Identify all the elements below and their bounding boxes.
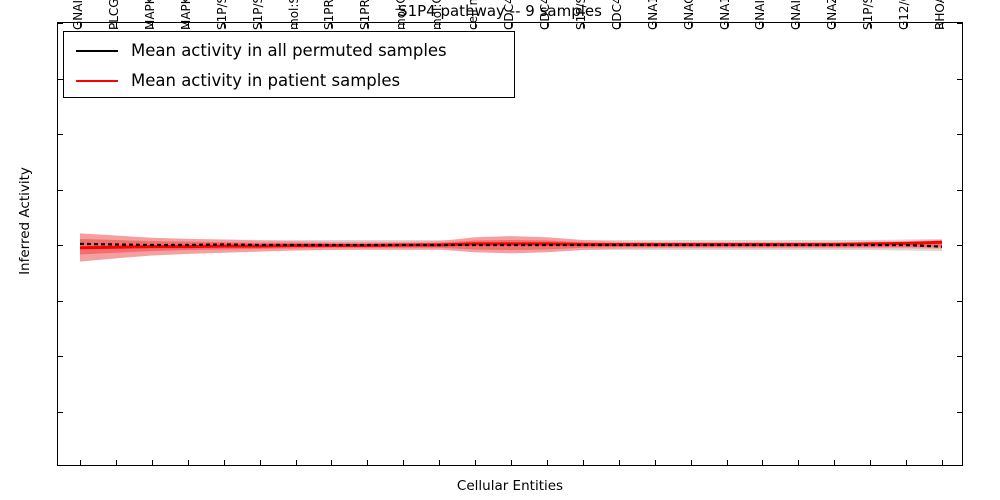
y-axis-title: Inferred Activity (17, 101, 33, 341)
x-tick-label: GNA13 (647, 0, 659, 34)
x-tick-mark (403, 460, 404, 465)
legend-swatch-permuted (76, 50, 118, 52)
x-axis-title: Cellular Entities (57, 478, 963, 494)
y-tick-mark (58, 190, 63, 191)
y-tick-mark (58, 301, 63, 302)
x-tick-mark (260, 460, 261, 465)
legend-entry-patient: Mean activity in patient samples (64, 66, 516, 96)
x-tick-mark (296, 460, 297, 465)
x-tick-label: mol:S1P (288, 0, 300, 34)
x-tick-mark (798, 460, 799, 465)
x-tick-mark (188, 460, 189, 465)
y-tick-mark (957, 356, 962, 357)
x-tick-label: cell migration (467, 0, 479, 34)
legend: Mean activity in all permuted samples Me… (63, 31, 515, 98)
x-tick-mark (331, 460, 332, 465)
x-tick-label: RHOA (934, 0, 946, 34)
y-tick-mark (957, 23, 962, 24)
x-tick-mark (116, 460, 117, 465)
figure-canvas: S1P4 pathway -- 9 samples Mean activity … (0, 0, 1000, 500)
x-tick-mark (762, 460, 763, 465)
y-tick-mark (58, 356, 63, 357)
x-tick-mark (942, 460, 943, 465)
x-tick-label: GNAO1 (683, 0, 695, 34)
plot-area: Mean activity in all permuted samples Me… (57, 22, 963, 466)
x-tick-label: G12/G13 (898, 0, 910, 34)
x-tick-label: S1P/S1P4/G12/G13 (862, 0, 874, 34)
x-tick-mark (224, 460, 225, 465)
x-tick-label: CDC42/GTP (503, 0, 515, 34)
x-tick-label: GNAI3 (790, 0, 802, 34)
x-tick-mark (834, 460, 835, 465)
x-tick-mark (511, 460, 512, 465)
y-tick-mark (58, 134, 63, 135)
x-tick-mark (80, 460, 81, 465)
x-tick-mark (439, 460, 440, 465)
x-tick-label: S1P/S1P4/Gi (216, 0, 228, 34)
x-tick-label: S1PR4 (359, 0, 371, 34)
x-tick-mark (547, 460, 548, 465)
x-tick-mark (475, 460, 476, 465)
y-tick-mark (58, 245, 63, 246)
x-tick-mark (727, 460, 728, 465)
x-tick-mark (691, 460, 692, 465)
x-tick-label: S1P/S1P5/Gi (252, 0, 264, 34)
x-tick-label: mol:GDP (395, 0, 407, 34)
x-tick-mark (655, 460, 656, 465)
x-tick-label: CDC42/GDP (539, 0, 551, 34)
x-tick-label: GNAZ (826, 0, 838, 34)
x-tick-label: S1PR5 (323, 0, 335, 34)
x-tick-label: MAPK3 (180, 0, 192, 34)
y-tick-mark (957, 134, 962, 135)
y-tick-mark (58, 23, 63, 24)
x-tick-mark (619, 460, 620, 465)
x-tick-mark (367, 460, 368, 465)
x-tick-label: PLCG1 (108, 0, 120, 34)
x-tick-label: S1P/S1P5/G12 (575, 0, 587, 34)
legend-swatch-patient (76, 80, 118, 82)
x-tick-mark (906, 460, 907, 465)
x-tick-label: CDC42 (611, 0, 623, 34)
y-tick-mark (957, 79, 962, 80)
y-tick-mark (957, 301, 962, 302)
x-tick-label: GNA12 (719, 0, 731, 34)
x-tick-label: GNAI2 (754, 0, 766, 34)
legend-label-patient: Mean activity in patient samples (131, 70, 400, 92)
x-tick-mark (152, 460, 153, 465)
y-tick-mark (58, 412, 63, 413)
x-tick-mark (870, 460, 871, 465)
y-tick-mark (957, 412, 962, 413)
x-tick-label: GNAI1 (72, 0, 84, 34)
y-tick-mark (957, 245, 962, 246)
y-tick-mark (957, 190, 962, 191)
legend-entry-permuted: Mean activity in all permuted samples (64, 36, 516, 66)
x-tick-label: MAPK1 (144, 0, 156, 34)
x-tick-mark (583, 460, 584, 465)
x-tick-label: mol:GTP (431, 0, 443, 34)
legend-label-permuted: Mean activity in all permuted samples (131, 40, 447, 62)
